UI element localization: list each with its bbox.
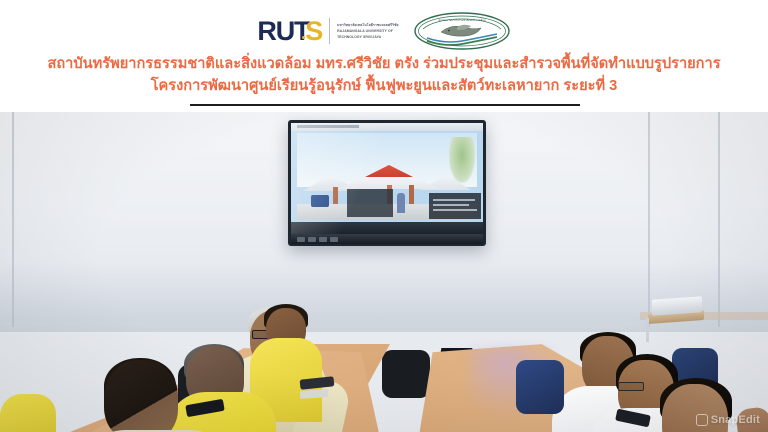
snapedit-badge-icon — [696, 414, 708, 426]
tv-button-icon — [319, 237, 327, 242]
slide-object-blue — [311, 195, 329, 207]
slide-tree — [449, 137, 475, 183]
institute-emblem-icon: สถาบันทรัพยากรธรรมชาติและสิ่งแวดล้อม — [413, 12, 511, 50]
ruts-logo: RUTS มหาวิทยาลัยเทคโนโลยีราชมงคลศรีวิชัย… — [257, 14, 398, 48]
meeting-room-photograph: SnapEdit — [0, 112, 768, 432]
ruts-accent-text: S — [305, 18, 322, 45]
torso — [166, 392, 276, 432]
slide-object-dark — [347, 189, 393, 217]
logo-row: RUTS มหาวิทยาลัยเทคโนโลยีราชมงคลศรีวิชัย… — [0, 10, 768, 52]
slide-caption-line — [433, 204, 469, 206]
tv-button-icon — [297, 237, 305, 242]
ruts-subtext-line-1: มหาวิทยาลัยเทคโนโลยีราชมงคลศรีวิชัย — [337, 23, 398, 27]
office-chair — [382, 350, 430, 398]
television-bezel-controls — [291, 234, 483, 244]
title-divider — [190, 104, 580, 106]
snapedit-watermark: SnapEdit — [696, 414, 760, 426]
tv-button-icon — [308, 237, 316, 242]
ruts-subtext-block: มหาวิทยาลัยเทคโนโลยีราชมงคลศรีวิชัย RAJA… — [337, 23, 398, 40]
ruts-subtext-line-3: TECHNOLOGY SRIVIJAYA — [337, 35, 398, 39]
torso — [0, 394, 56, 432]
slide-toolbar — [291, 123, 483, 131]
header: RUTS มหาวิทยาลัยเทคโนโลยีราชมงคลศรีวิชัย… — [0, 0, 768, 112]
institute-emblem: สถาบันทรัพยากรธรรมชาติและสิ่งแวดล้อม — [413, 12, 511, 50]
ruts-wordmark: RUTS — [257, 18, 322, 45]
page-title: สถาบันทรัพยากรธรรมชาติและสิ่งแวดล้อม มทร… — [0, 54, 768, 98]
head — [104, 360, 178, 432]
wall-mounted-television — [288, 120, 486, 246]
ruts-subtext-line-2: RAJAMANGALA UNIVERSITY OF — [337, 29, 398, 33]
slide-caption-panel — [429, 193, 481, 219]
logo-divider — [329, 18, 330, 44]
slide-caption-line — [433, 199, 475, 201]
headline-line-1: สถาบันทรัพยากรธรรมชาติและสิ่งแวดล้อม มทร… — [47, 56, 720, 72]
slide-taskbar — [291, 222, 483, 234]
shelf-cable — [646, 318, 649, 342]
office-chair — [516, 360, 564, 414]
eyeglasses-worn — [618, 382, 644, 391]
svg-text:สถาบันทรัพยากรธรรมชาติและสิ่งแ: สถาบันทรัพยากรธรรมชาติและสิ่งแวดล้อม — [438, 18, 485, 22]
tv-button-icon — [330, 237, 338, 242]
headline-line-2: โครงการพัฒนาศูนย์เรียนรู้อนุรักษ์ ฟื้นฟู… — [14, 76, 754, 98]
slide-caption-line — [433, 209, 477, 211]
ruts-dot-icon — [302, 36, 305, 39]
snapedit-watermark-text: SnapEdit — [711, 414, 760, 426]
ruts-primary-text: RUT — [257, 18, 309, 45]
slide-person-figure — [397, 193, 405, 213]
television-screen — [291, 123, 483, 234]
